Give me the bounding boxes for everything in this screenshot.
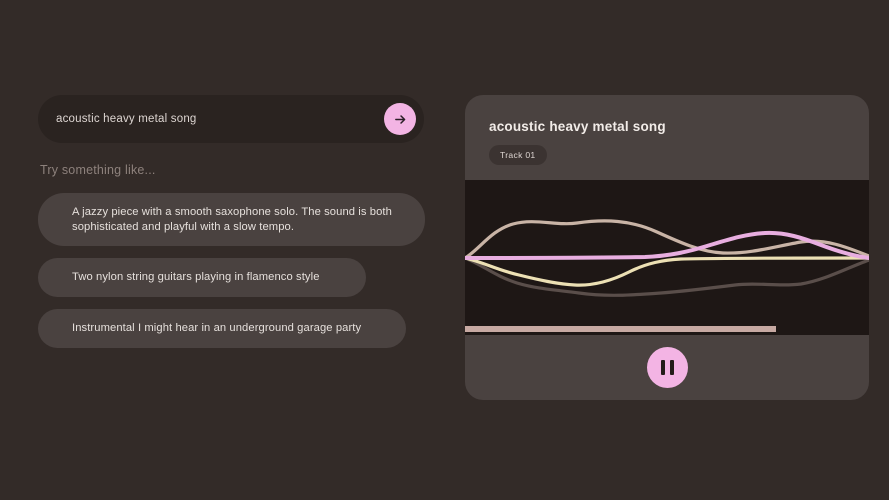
suggestions-heading: Try something like... bbox=[38, 163, 430, 177]
progress-bar-fill bbox=[465, 326, 776, 332]
prompt-panel: Try something like... A jazzy piece with… bbox=[38, 95, 430, 360]
submit-button[interactable] bbox=[384, 103, 416, 135]
track-title: acoustic heavy metal song bbox=[489, 119, 869, 134]
suggestion-item[interactable]: Two nylon string guitars playing in flam… bbox=[38, 258, 366, 297]
pause-bar-left bbox=[661, 360, 665, 375]
suggestion-item[interactable]: Instrumental I might hear in an undergro… bbox=[38, 309, 406, 348]
player-card: acoustic heavy metal song Track 01 bbox=[465, 95, 869, 400]
progress-bar[interactable] bbox=[465, 326, 869, 332]
prompt-search-bar[interactable] bbox=[38, 95, 424, 143]
transport-controls bbox=[465, 335, 869, 400]
suggestions-list: A jazzy piece with a smooth saxophone so… bbox=[38, 193, 430, 348]
waveform-panel[interactable] bbox=[465, 180, 869, 335]
search-input[interactable] bbox=[56, 95, 386, 143]
suggestion-item[interactable]: A jazzy piece with a smooth saxophone so… bbox=[38, 193, 425, 246]
pause-bar-right bbox=[670, 360, 674, 375]
pause-icon bbox=[661, 360, 674, 375]
play-pause-button[interactable] bbox=[647, 347, 688, 388]
app-root: Try something like... A jazzy piece with… bbox=[0, 0, 889, 500]
player-header: acoustic heavy metal song Track 01 bbox=[465, 95, 869, 180]
track-badge: Track 01 bbox=[489, 145, 547, 165]
waveform-graphic bbox=[465, 180, 869, 335]
arrow-right-icon bbox=[393, 112, 408, 127]
